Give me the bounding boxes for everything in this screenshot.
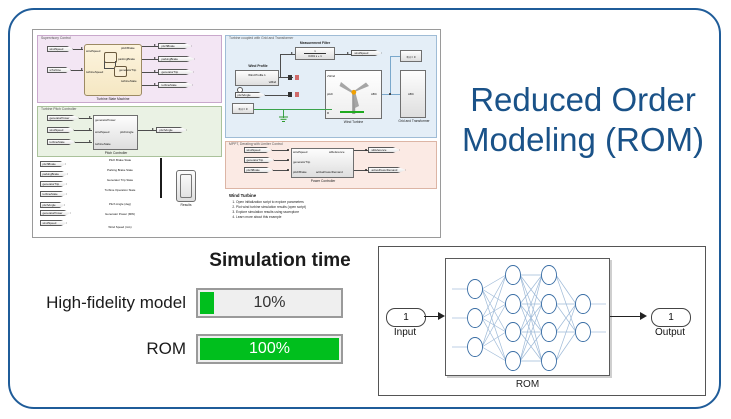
scope-signal-pitchangle[interactable]: pitchAngle <box>40 202 65 208</box>
neural-network-graphic <box>446 259 611 377</box>
scope-signal-pitchbrake[interactable]: pitchBrake <box>40 161 66 167</box>
block-grid-transformer-label: Grid and Transformer <box>395 119 433 123</box>
port-wreference-out: wReference <box>329 150 344 154</box>
input-port-block[interactable]: 1 <box>386 308 426 327</box>
port-pitch: pitch <box>327 92 333 96</box>
block-solver-right[interactable]: f(x) = 0 <box>400 50 422 62</box>
wind-profile-block-label: Wind Profile 1 <box>236 73 278 77</box>
port-parkingbrake-out: parkingBrake <box>118 57 135 61</box>
notes-heading: Wind Turbine <box>229 193 429 198</box>
progress-bar-high-fidelity: 10% <box>196 288 343 318</box>
progress-value-rom: 100% <box>198 336 341 362</box>
port-pitchbrake-mppt-in: pitchBrake <box>293 170 307 174</box>
output-port-block[interactable]: 1 <box>651 308 691 327</box>
scope-signal-generatortrip[interactable]: generatorTrip <box>40 181 67 187</box>
model-notes: Wind Turbine Open initialization script … <box>229 193 429 220</box>
page-title-line-2: Modeling (ROM) <box>452 120 714 160</box>
scope-signal-generatorpower[interactable]: generatorPower <box>40 210 71 216</box>
input-arrow-icon <box>438 312 445 320</box>
progress-value-high-fidelity: 10% <box>198 290 341 316</box>
block-results-label: Results <box>172 203 200 207</box>
filter-numerator: 1 <box>304 50 326 54</box>
scope-signal-turbinestate[interactable]: turbineState <box>40 191 67 197</box>
group-turbine-grid-transformer-title: Turbine coupled with Grid and Transforme… <box>229 36 293 40</box>
scope-signal-parkingbrake[interactable]: parkingBrake <box>40 171 68 177</box>
port-r: R <box>327 111 329 115</box>
block-wind-profile[interactable]: Wind Profile 1 vWind <box>235 70 279 86</box>
page-title-line-1: Reduced Order <box>452 80 714 120</box>
rom-block-caption: ROM <box>445 379 610 390</box>
port-windspeed-pitch-in: windSpeed <box>95 130 109 134</box>
sim-row-high-fidelity: High-fidelity model 10% <box>28 288 343 318</box>
signal-label-generator-power: Generator Power (MW) <box>85 212 155 216</box>
simulink-model-panel[interactable]: Supervisory Control Turbine State Machin… <box>32 29 441 238</box>
row-label-high-fidelity: High-fidelity model <box>28 293 196 313</box>
port-generatortrip-out: generatorTrip <box>119 68 136 72</box>
port-pitchbrake-out: pitchBrake <box>121 46 135 50</box>
scope-signal-windspeed[interactable]: windSpeed <box>40 220 67 226</box>
port-abc-grid: ABC <box>408 92 414 96</box>
progress-bar-rom: 100% <box>196 334 343 364</box>
filter-denominator: 0.001 s + 1 <box>296 55 334 58</box>
input-port-caption: Input <box>381 327 429 338</box>
sim-row-rom: ROM 100% <box>28 334 343 364</box>
solver-right-label: f(x) = 0 <box>401 55 421 59</box>
rom-diagram-panel[interactable]: 1 Input <box>378 246 706 396</box>
signal-label-pitch-brake-state: Pitch Brake State <box>85 158 155 162</box>
block-solver-left[interactable]: f(x) = 0 <box>232 103 254 114</box>
signal-label-generator-trip-state: Generator Trip State <box>85 178 155 182</box>
signal-label-wind-speed: Wind Speed (m/s) <box>85 225 155 229</box>
port-generatortrip-mppt-in: generatorTrip <box>293 160 310 164</box>
signal-label-parking-brake-state: Parking Brake State <box>85 168 155 172</box>
slide-canvas: Supervisory Control Turbine State Machin… <box>0 0 731 419</box>
block-pitch-controller-label: Pitch Controller <box>91 151 141 155</box>
measurement-filter-title: Measurement Filter <box>285 41 345 45</box>
group-mppt-limiter-control-title: MPPT, Derating with Limiter Control <box>229 142 283 146</box>
wind-profile-port-label: vWind <box>269 81 276 84</box>
port-windspeed-in: windSpeed <box>86 49 100 53</box>
port-abc-turbine: ABC <box>371 92 377 96</box>
port-turbinestate-out: turbineState <box>121 79 137 83</box>
page-title: Reduced Order Modeling (ROM) <box>452 80 714 161</box>
block-power-controller-label: Power Controller <box>289 179 357 183</box>
ground-icon <box>278 116 289 124</box>
converter-icon-1 <box>288 75 292 80</box>
port-activepowerdemand-out: activePowerDemand <box>316 170 343 174</box>
converter-icon-1b <box>295 75 299 80</box>
port-pitchangle-out: pitchAngle <box>120 130 134 134</box>
wind-turbine-icon <box>333 74 375 116</box>
block-wind-turbine-label: Wind Turbine <box>325 120 382 124</box>
output-port-caption: Output <box>646 327 694 338</box>
block-measurement-filter[interactable]: 1 0.001 s + 1 <box>295 47 335 60</box>
group-supervisory-control-title: Supervisory Control <box>41 36 71 40</box>
signal-label-pitch-angle: Pitch Angle (deg) <box>85 202 155 206</box>
port-vwind: vWind <box>327 74 335 78</box>
solver-left-label: f(x) = 0 <box>233 107 253 111</box>
wind-profile-title: Wind Profile <box>233 64 283 68</box>
group-turbine-pitch-controller-title: Turbine Pitch Controller <box>41 107 77 111</box>
rom-block[interactable] <box>445 258 610 376</box>
notes-list: Open initialization script to explore pa… <box>229 200 429 220</box>
converter-icon-2 <box>288 92 292 97</box>
turbine-ground-bar <box>340 111 364 113</box>
port-turbinestate-pitch-in: turbineState <box>95 142 111 146</box>
mux-bar <box>160 158 162 198</box>
output-arrow-icon <box>640 312 647 320</box>
port-generatorpower-in: generatorPower <box>95 118 116 122</box>
block-results-scope[interactable] <box>176 170 196 202</box>
block-turbine-state-machine-label: Turbine State Machine <box>84 97 142 101</box>
row-label-rom: ROM <box>28 339 196 359</box>
signal-label-turbine-operation-state: Turbine Operation State <box>85 188 155 192</box>
port-windspeed-mppt-in: windSpeed <box>293 150 307 154</box>
simulation-time-heading: Simulation time <box>200 250 360 272</box>
converter-icon-2b <box>295 92 299 97</box>
port-turbinespeed-in: turbineSpeed <box>86 70 103 74</box>
note-item[interactable]: Learn more about this example <box>236 215 429 220</box>
